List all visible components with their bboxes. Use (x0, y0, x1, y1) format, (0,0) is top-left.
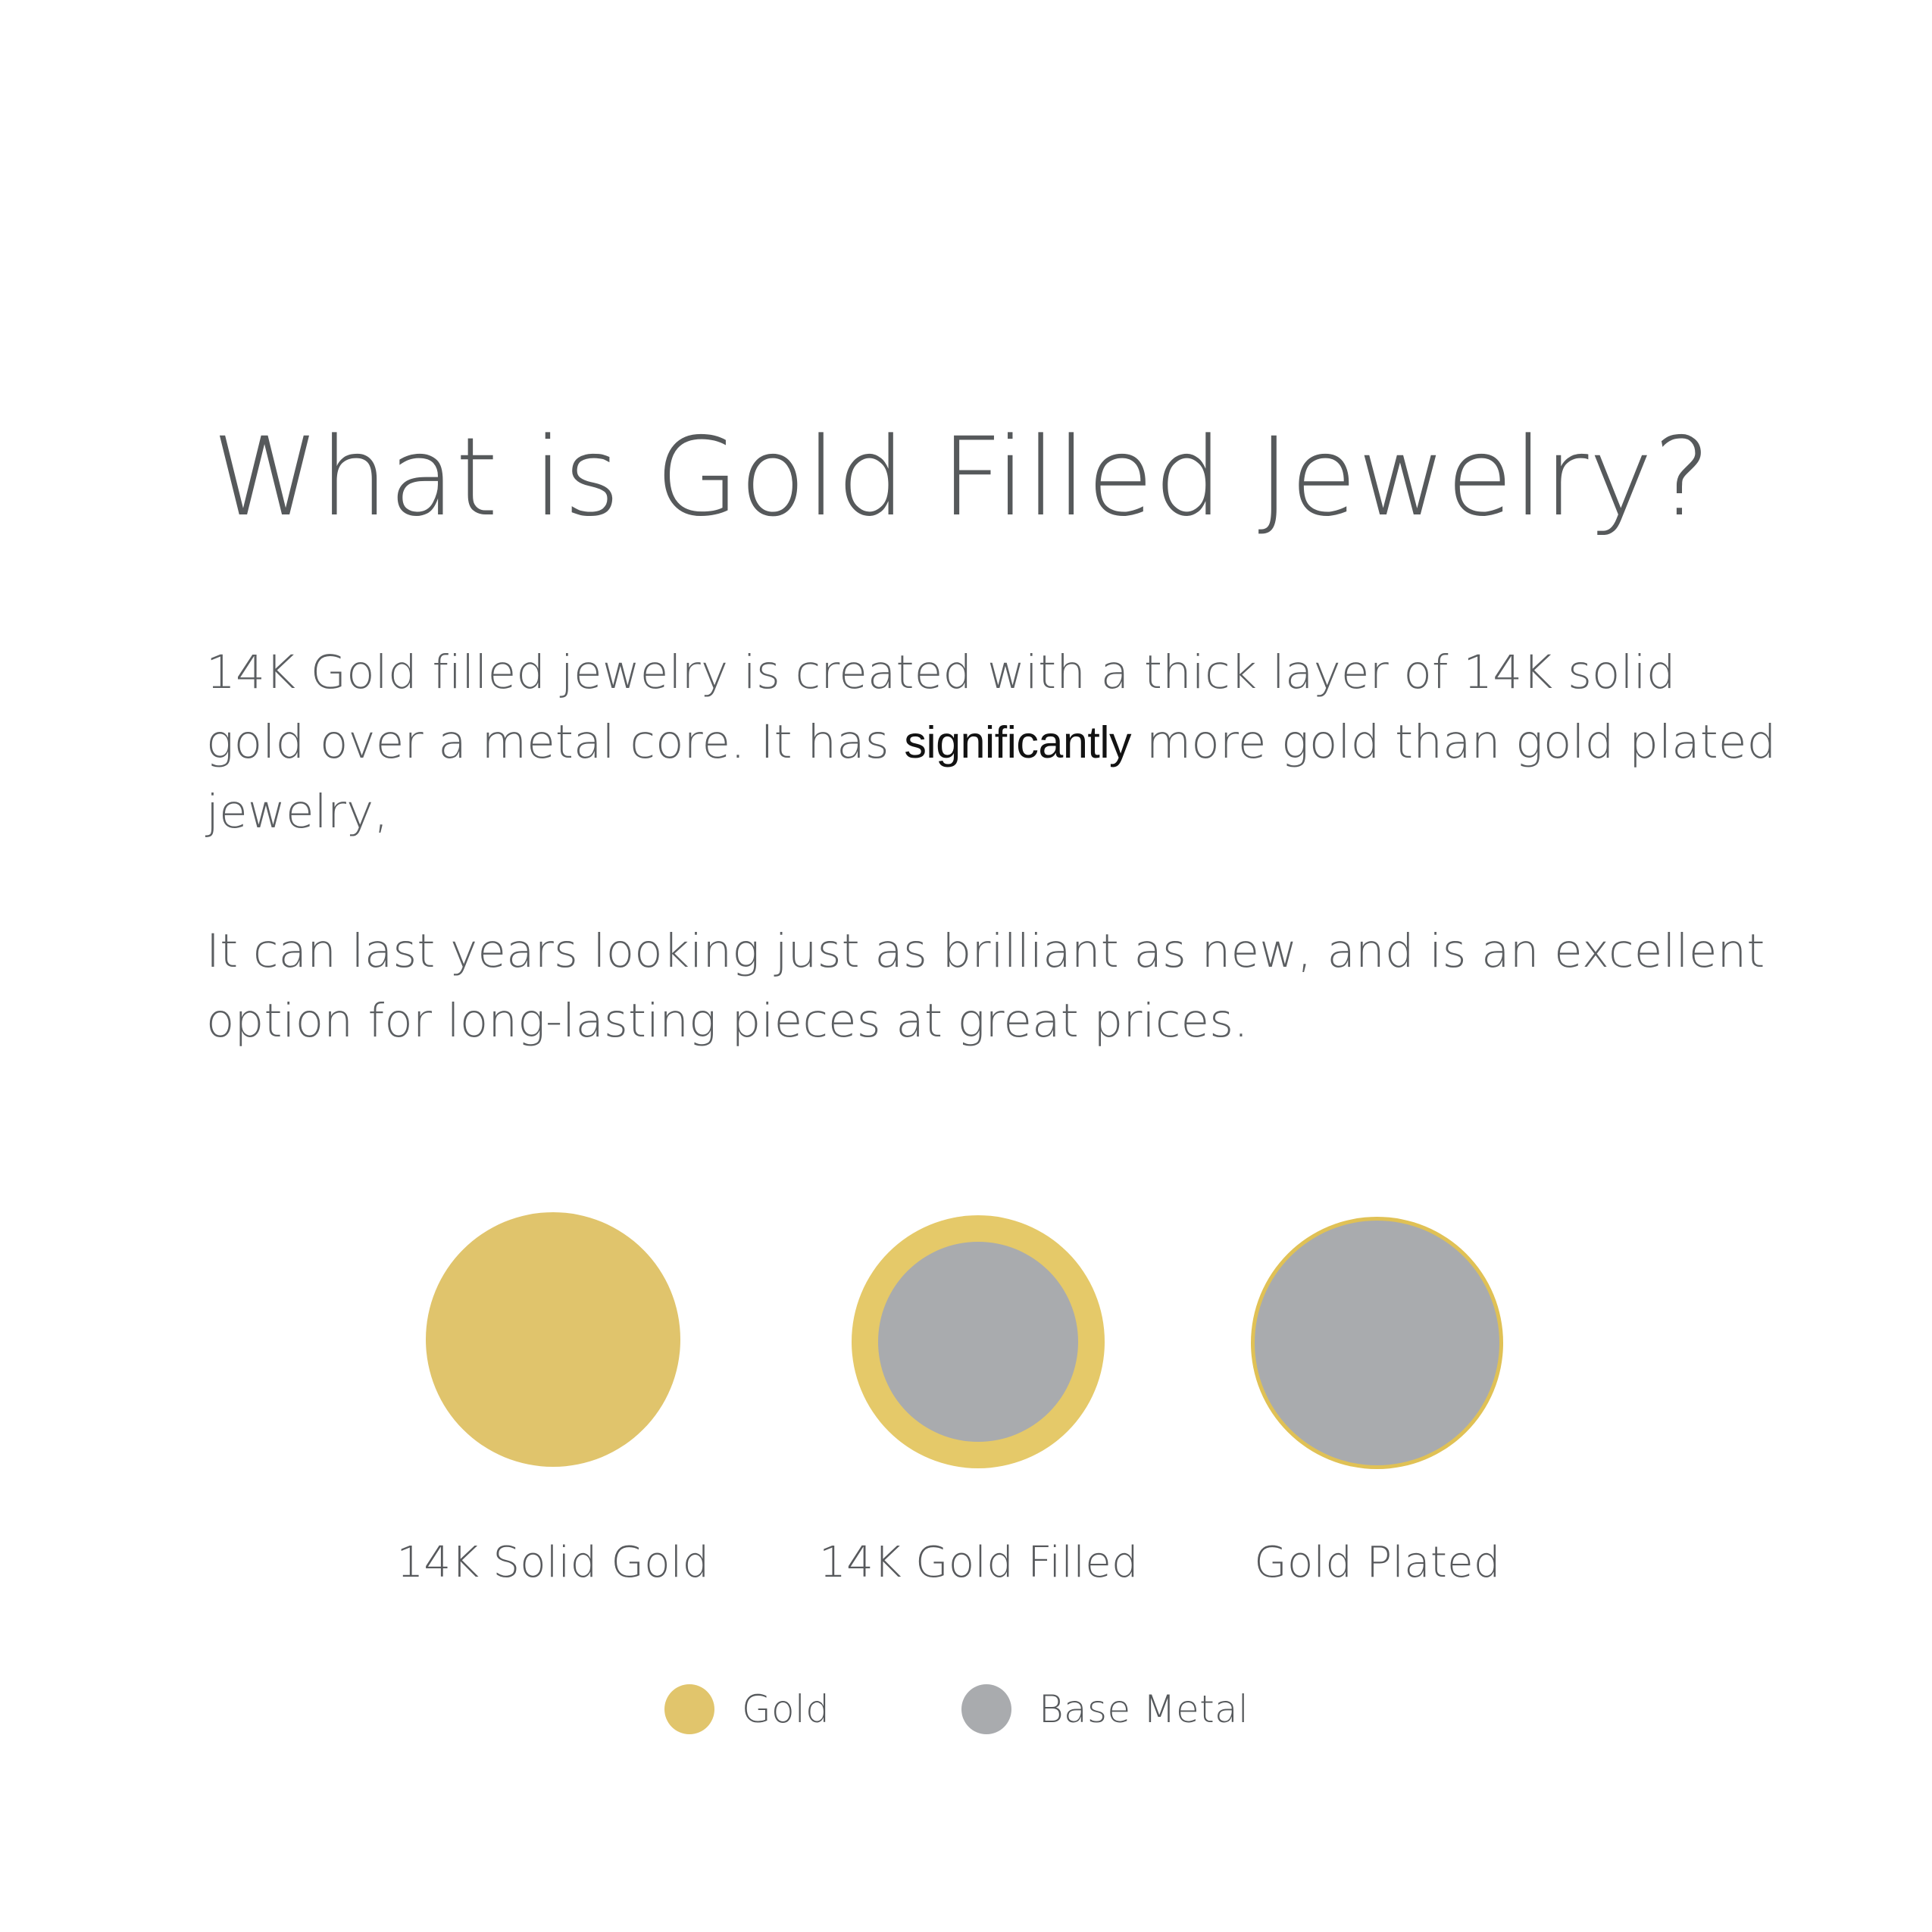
paragraph-2: It can last years looking just as brilli… (206, 917, 1782, 1056)
legend: Gold Base Metal (0, 1683, 1932, 1744)
diagram-item-gold-filled (852, 1212, 1106, 1467)
body-copy: 14K Gold filled jewelry is created with … (206, 638, 1782, 1056)
solid-gold-disc (426, 1212, 680, 1467)
gold-swatch-icon (664, 1684, 714, 1734)
page-title: What is Gold Filled Jewelry? (212, 423, 1803, 531)
emphasized-word: significantly (904, 717, 1131, 767)
gold-plated-base-metal-core (1255, 1221, 1499, 1465)
legend-item-base-metal: Base Metal (961, 1683, 1249, 1735)
caption-gold-plated: Gold Plated (1143, 1538, 1612, 1587)
base-metal-swatch-icon (961, 1684, 1011, 1734)
legend-item-gold: Gold (664, 1683, 830, 1735)
paragraph-1: 14K Gold filled jewelry is created with … (206, 638, 1782, 847)
caption-solid-gold: 14K Solid Gold (318, 1538, 788, 1587)
legend-label-gold: Gold (742, 1687, 830, 1731)
infographic-page: What is Gold Filled Jewelry? 14K Gold fi… (0, 0, 1932, 1932)
diagram-item-solid-gold (426, 1212, 680, 1467)
diagram-captions: 14K Solid Gold 14K Gold Filled Gold Plat… (0, 1538, 1932, 1599)
legend-label-base-metal: Base Metal (1039, 1687, 1249, 1731)
paragraph-spacer (206, 847, 1782, 917)
gold-filled-base-metal-core (878, 1242, 1078, 1442)
diagram-item-gold-plated (1251, 1212, 1505, 1467)
gold-comparison-diagram (0, 1212, 1932, 1477)
